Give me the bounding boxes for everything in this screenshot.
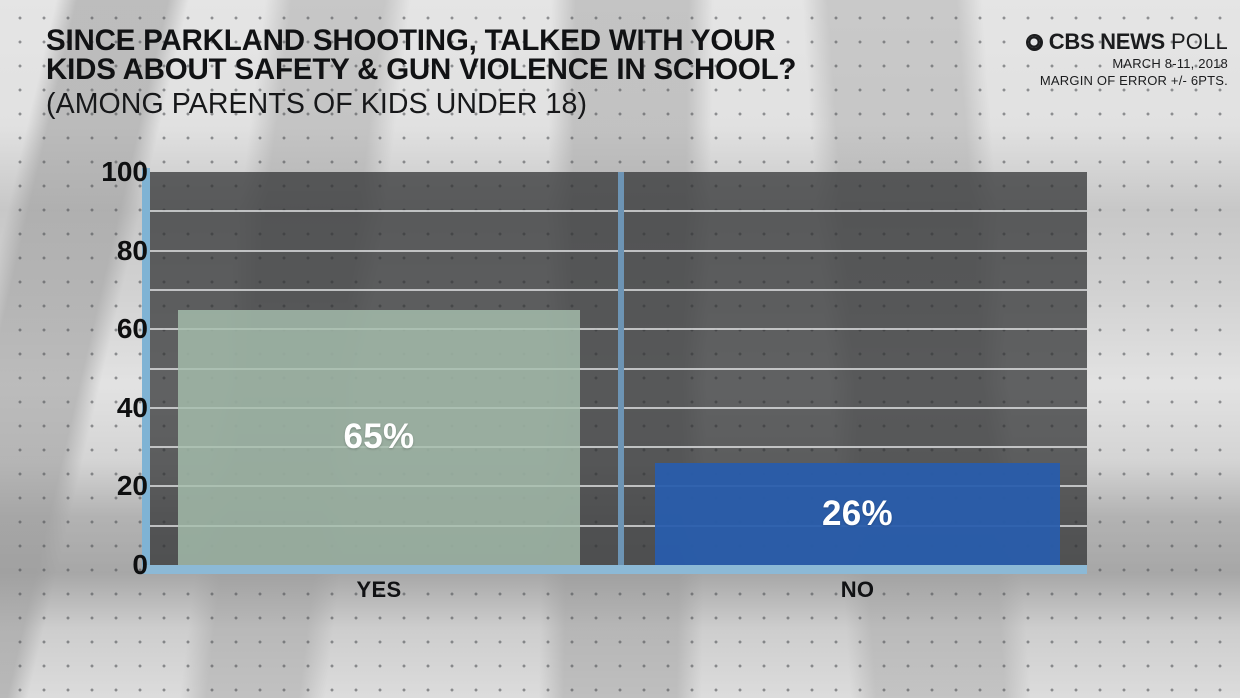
bar-value-yes: 65% xyxy=(344,417,415,457)
poll-graphic: SINCE PARKLAND SHOOTING, TALKED WITH YOU… xyxy=(0,0,1240,698)
y-axis-tick-40: 40 xyxy=(78,394,148,422)
y-axis-tick-80: 80 xyxy=(78,237,148,265)
category-divider-line xyxy=(618,172,624,565)
x-axis-label-no: NO xyxy=(655,578,1060,602)
bar-value-no: 26% xyxy=(822,494,893,534)
bar-no: 26% xyxy=(655,463,1060,565)
y-axis-line xyxy=(142,168,150,572)
y-axis-tick-60: 60 xyxy=(78,315,148,343)
x-axis-label-yes: YES xyxy=(178,578,580,602)
y-axis-tick-20: 20 xyxy=(78,472,148,500)
bar-yes: 65% xyxy=(178,310,580,565)
y-axis-tick-0: 0 xyxy=(78,551,148,579)
x-axis-line xyxy=(142,565,1087,574)
bar-chart: 020406080100 65%26% YESNO xyxy=(0,0,1240,698)
y-axis-tick-100: 100 xyxy=(78,158,148,186)
